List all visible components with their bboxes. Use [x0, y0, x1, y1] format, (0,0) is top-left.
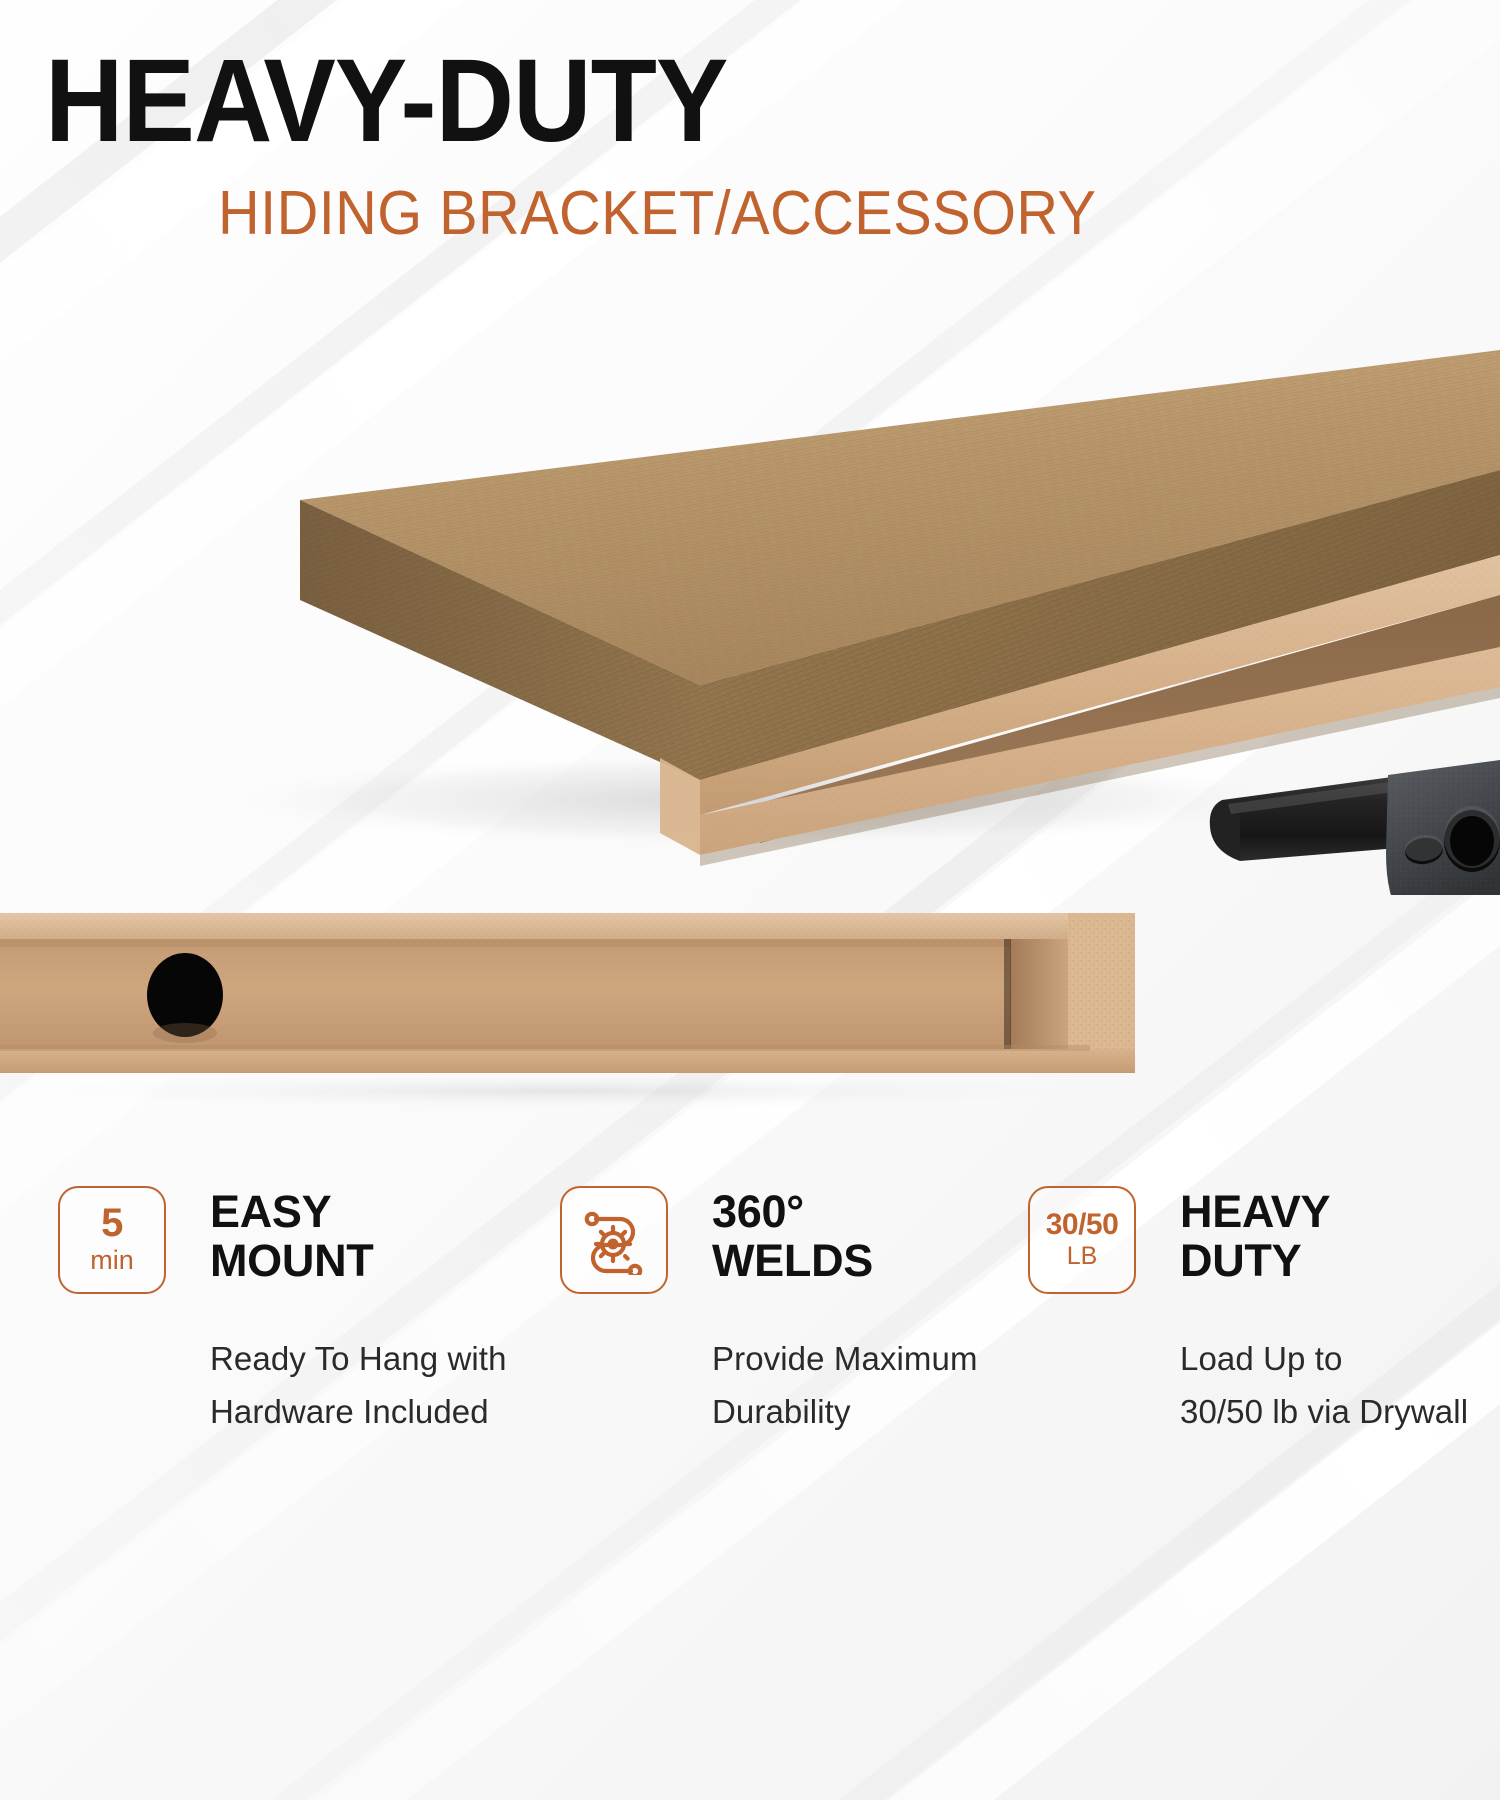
weight-capacity-badge-icon: 30/50 LB	[1028, 1186, 1136, 1294]
shelf-cross-section-illustration	[0, 895, 1200, 1115]
cross-section-shadow	[0, 1071, 1180, 1111]
cross-section-product-photo	[0, 895, 1200, 1115]
page-title: HEAVY-DUTY	[45, 42, 727, 160]
weld-path-gear-icon	[560, 1186, 668, 1294]
feature-title: HEAVY DUTY	[1180, 1188, 1330, 1285]
feature-list: 5 min EASY MOUNT Ready To Hang with Hard…	[0, 1180, 1500, 1470]
feature-title: EASY MOUNT	[210, 1188, 373, 1285]
badge-unit: min	[90, 1245, 134, 1276]
feature-title: 360° WELDS	[712, 1188, 873, 1285]
cross-section-channel-end-wall	[1010, 939, 1068, 1049]
time-badge-icon: 5 min	[58, 1186, 166, 1294]
feature-description: Provide Maximum Durability	[712, 1332, 978, 1439]
badge-value: 5	[101, 1203, 123, 1243]
badge-unit: LB	[1067, 1242, 1098, 1271]
hero-product-photo	[0, 255, 1500, 895]
page-subtitle: HIDING BRACKET/ACCESSORY	[218, 183, 1096, 245]
badge-value: 30/50	[1046, 1210, 1119, 1240]
feature-description: Ready To Hang with Hardware Included	[210, 1332, 507, 1439]
feature-description: Load Up to 30/50 lb via Drywall	[1180, 1332, 1468, 1439]
weld-path-gear-glyph	[579, 1205, 649, 1275]
shelf-and-bracket-illustration	[0, 255, 1500, 895]
